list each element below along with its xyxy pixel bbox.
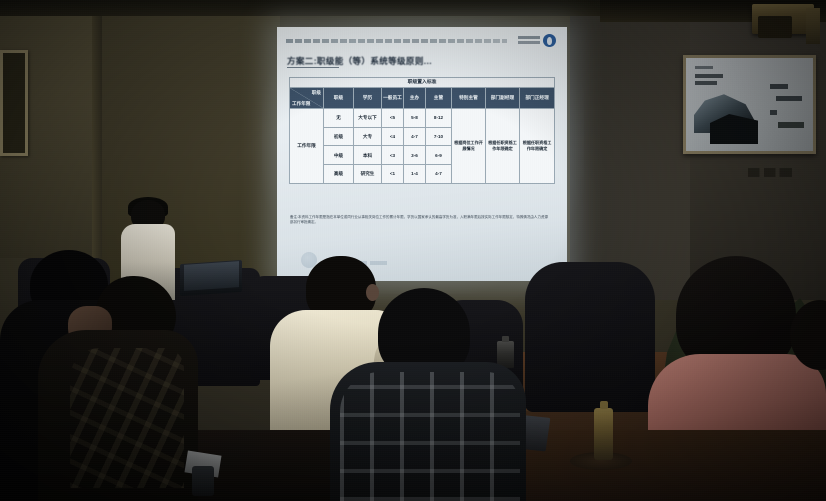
cell-merged-note: 根据任职资格工作年限确定 (486, 109, 520, 184)
left-wall-picture-frame (0, 50, 28, 156)
right-wall-shadow (570, 0, 690, 300)
cell-zhuguan: 8-12 (426, 109, 452, 128)
left-wall-corner (92, 0, 102, 258)
corner-header-bottom: 工作年限 (292, 101, 310, 106)
cell-level: 中级 (324, 146, 354, 165)
poster-text-line (770, 84, 788, 89)
cell-level: 高级 (324, 165, 354, 184)
table-col-header: 学历 (354, 88, 382, 109)
poster-text-line (695, 74, 723, 78)
table-row: 工作年限 无 大专以下 <5 5-8 8-12 根据岗位工作开展情况 根据任职资… (290, 109, 555, 128)
table-col-header: 部门正经理 (520, 88, 555, 109)
cell-education: 研究生 (354, 165, 382, 184)
right-wall-poster-frame (683, 55, 816, 154)
table-col-header: 主管 (426, 88, 452, 109)
poster-text-line (695, 66, 713, 69)
poster-text-line (770, 110, 777, 115)
office-chair (525, 262, 655, 412)
corner-header-top: 职级 (312, 90, 321, 95)
job-grade-table: 职级置入标准 职级 工作年限 职级 学历 一般员工 主办 主管 特别主管 部门副… (289, 77, 555, 184)
slide-title-underline (287, 67, 339, 68)
cell-staff: <5 (382, 109, 404, 128)
meeting-room-photo: 方案二:职级能（等）系统等级原则... 职级置入标准 职级 工作年限 职级 学历… (0, 0, 826, 501)
laptop-screen (184, 261, 239, 291)
right-wall-sign (748, 168, 792, 177)
table-corner-header: 职级 工作年限 (290, 88, 324, 109)
cell-education: 大专 (354, 127, 382, 146)
attendee-head-down-shirt-pattern (70, 348, 184, 488)
projector-mount (806, 8, 820, 44)
cell-level: 无 (324, 109, 354, 128)
projector-lens-icon (758, 16, 792, 38)
cell-zhuban: 5-8 (404, 109, 426, 128)
cell-level: 初级 (324, 127, 354, 146)
cell-merged-note: 根据岗位工作开展情况 (452, 109, 486, 184)
cell-zhuguan: 4-7 (426, 165, 452, 184)
poster-text-line (695, 81, 717, 85)
cell-staff: <3 (382, 146, 404, 165)
poster-text-line (776, 96, 802, 101)
slide-header-text (286, 39, 507, 43)
table-col-header: 主办 (404, 88, 426, 109)
table-col-header: 职级 (324, 88, 354, 109)
slide-footnote: 备注:本资料工作年限是指在本单位或同行业从事相关岗位工作的累计年限，学历以国家承… (290, 215, 548, 226)
table-band-row: 职级置入标准 (290, 78, 555, 88)
table-band-title: 职级置入标准 (290, 78, 555, 88)
cell-zhuban: 4-7 (404, 127, 426, 146)
cell-staff: <1 (382, 165, 404, 184)
company-shield-logo-icon (543, 34, 556, 47)
table-col-header: 特别主管 (452, 88, 486, 109)
cell-zhuguan: 6-9 (426, 146, 452, 165)
table-col-header: 部门副经理 (486, 88, 520, 109)
cell-zhuban: 1-4 (404, 165, 426, 184)
slide-title: 方案二:职级能（等）系统等级原则... (287, 55, 432, 67)
cell-zhuguan: 7-10 (426, 127, 452, 146)
cell-education: 本科 (354, 146, 382, 165)
table-col-header: 一般员工 (382, 88, 404, 109)
water-bottle (594, 408, 613, 460)
attendee-plaid-shirt-pattern (340, 372, 520, 501)
mobile-phone (192, 466, 214, 496)
table-header-row: 职级 工作年限 职级 学历 一般员工 主办 主管 特别主管 部门副经理 部门正经… (290, 88, 555, 109)
poster-text-line (778, 122, 804, 128)
row-group-label: 工作年限 (290, 109, 324, 184)
attendee-cream-shirt-ear (366, 284, 379, 301)
cell-education: 大专以下 (354, 109, 382, 128)
cell-staff: <4 (382, 127, 404, 146)
projection-screen: 方案二:职级能（等）系统等级原则... 职级置入标准 职级 工作年限 职级 学历… (277, 27, 567, 281)
cell-merged-note: 根据任职资格工作年限确定 (520, 109, 555, 184)
cell-zhuban: 3-6 (404, 146, 426, 165)
company-logo-wordmark (518, 36, 540, 44)
